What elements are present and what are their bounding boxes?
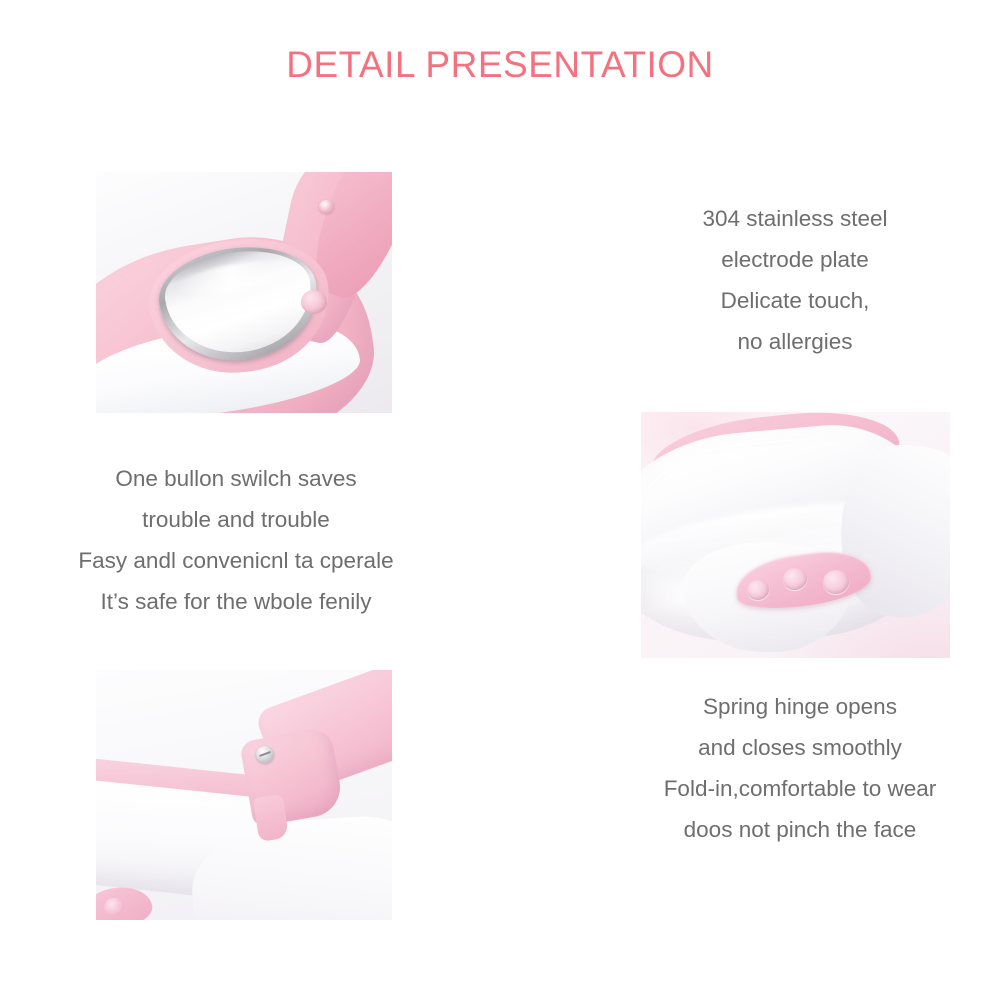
hinge-screw-icon xyxy=(256,746,274,763)
corner-button xyxy=(104,898,124,916)
hinge-tab xyxy=(253,794,289,842)
caption-line: Delicate touch, xyxy=(620,280,970,321)
photo-control-buttons xyxy=(641,412,950,658)
caption-line: Spring hinge opens xyxy=(590,686,1000,727)
caption-line: doos not pinch the face xyxy=(590,809,1000,850)
caption-line: Fasy andl convenicnl ta cperale xyxy=(26,540,446,581)
caption-line: 304 stainless steel xyxy=(620,198,970,239)
page-title: DETAIL PRESENTATION xyxy=(0,44,1000,86)
caption-line: and closes smoothly xyxy=(590,727,1000,768)
caption-line: Fold-in,comfortable to wear xyxy=(590,768,1000,809)
photo-electrode-plate xyxy=(96,172,392,413)
photo-spring-hinge xyxy=(96,670,392,920)
hinge-screw-icon xyxy=(319,200,334,213)
caption-line: One bullon swilch saves xyxy=(26,458,446,499)
caption-line: no allergies xyxy=(620,321,970,362)
side-knob xyxy=(301,290,327,314)
caption-line: It’s safe for the wbole fenily xyxy=(26,581,446,622)
caption-line: electrode plate xyxy=(620,239,970,280)
caption-spring-hinge: Spring hinge opens and closes smoothly F… xyxy=(590,686,1000,850)
caption-one-button-switch: One bullon swilch saves trouble and trou… xyxy=(26,458,446,622)
caption-line: trouble and trouble xyxy=(26,499,446,540)
caption-electrode-plate: 304 stainless steel electrode plate Deli… xyxy=(620,198,970,362)
